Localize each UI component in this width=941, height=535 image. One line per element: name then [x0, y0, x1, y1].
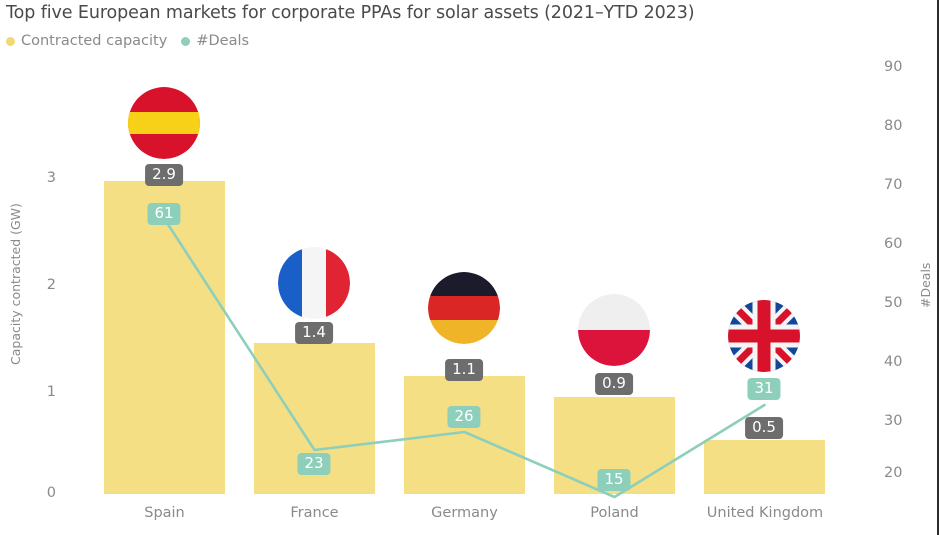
- y-axis-tick-left: 3: [22, 170, 56, 186]
- bar-value-badge: 1.4: [295, 322, 333, 344]
- y-axis-tick-right: 40: [884, 354, 924, 370]
- y-axis-tick-left: 1: [22, 384, 56, 400]
- deal-value-badge: 26: [447, 406, 480, 428]
- flag-poland-icon: [578, 294, 650, 366]
- flag-germany-icon: [428, 272, 500, 344]
- y-axis-tick-right: 90: [884, 59, 924, 75]
- y-axis-tick-right: 70: [884, 177, 924, 193]
- deal-value-badge: 23: [297, 453, 330, 475]
- bar-value-badge: 0.5: [745, 417, 783, 439]
- y-axis-tick-right: 50: [884, 295, 924, 311]
- chart-container: Top five European markets for corporate …: [0, 0, 941, 535]
- deal-value-badge: 61: [147, 203, 180, 225]
- bar-value-badge: 0.9: [595, 373, 633, 395]
- flag-france-icon: [278, 247, 350, 319]
- bar-value-badge: 2.9: [145, 164, 183, 186]
- x-axis-label: United Kingdom: [690, 505, 840, 521]
- flag-spain-icon: [128, 87, 200, 159]
- bar-value-badge: 1.1: [445, 359, 483, 381]
- deal-value-badge: 15: [597, 469, 630, 491]
- y-axis-tick-left: 2: [22, 277, 56, 293]
- y-axis-tick-left: 0: [22, 485, 56, 501]
- right-edge-divider: [937, 0, 939, 535]
- y-axis-title-left: Capacity contracted (GW): [8, 203, 23, 365]
- y-axis-tick-right: 80: [884, 118, 924, 134]
- x-axis-label: Spain: [104, 505, 225, 521]
- x-axis-label: Germany: [404, 505, 525, 521]
- y-axis-tick-right: 30: [884, 413, 924, 429]
- bar-united-kingdom[interactable]: [704, 440, 825, 494]
- y-axis-tick-right: 60: [884, 236, 924, 252]
- x-axis-label: France: [254, 505, 375, 521]
- bar-germany[interactable]: [404, 376, 525, 494]
- flag-united-kingdom-icon: [728, 300, 800, 372]
- y-axis-tick-right: 20: [884, 465, 924, 481]
- deal-value-badge: 31: [747, 378, 780, 400]
- x-axis-label: Poland: [554, 505, 675, 521]
- plot-area: Capacity contracted (GW) 3 2 1 0 #Deals …: [0, 0, 941, 535]
- bar-spain[interactable]: [104, 181, 225, 494]
